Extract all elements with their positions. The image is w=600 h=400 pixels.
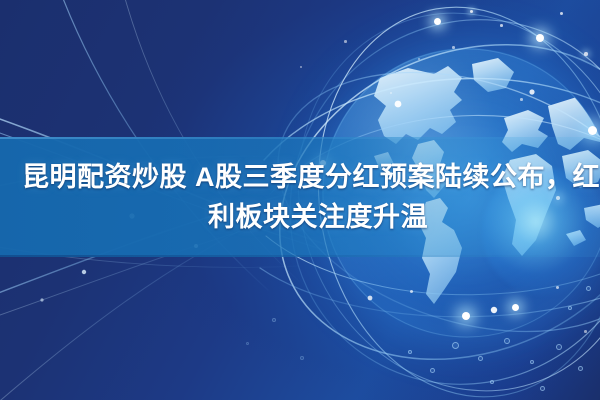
headline-line-1: 昆明配资炒股 A股三季度分红预案陆续公布，红 [22,157,584,197]
news-banner: 昆明配资炒股 A股三季度分红预案陆续公布，红 利板块关注度升温 [0,0,600,400]
headline-block: 昆明配资炒股 A股三季度分红预案陆续公布，红 利板块关注度升温 [0,137,600,257]
headline-line-2: 利板块关注度升温 [22,197,584,237]
